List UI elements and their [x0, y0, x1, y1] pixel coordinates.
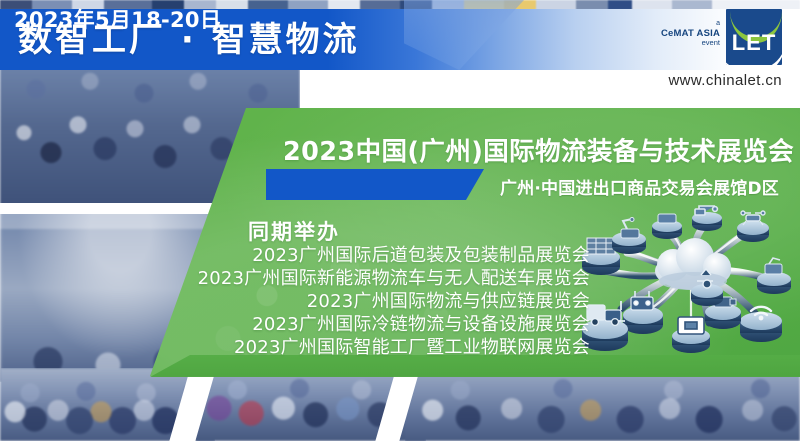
event-venue: 广州·中国进出口商品交易会展馆D区: [500, 174, 779, 199]
cloud-icon: [655, 238, 731, 290]
event-title: 2023中国(广州)国际物流装备与技术展览会: [283, 131, 794, 168]
website-url[interactable]: www.chinalet.cn: [668, 72, 782, 89]
cemat-asia-tagline: a CeMAT ASIA event: [634, 20, 720, 48]
pod-drone: [737, 211, 769, 242]
event-date-text: 2023年5月18-20日: [14, 4, 221, 34]
tagline-line-1: a: [634, 20, 720, 28]
concurrent-events-list: 2023广州国际后道包装及包装制品展览会 2023广州国际新能源物流车与无人配送…: [0, 244, 590, 359]
pod-crane: [692, 206, 722, 231]
pod-wifi: [740, 307, 782, 342]
event-date-badge: [266, 169, 484, 200]
iot-cloud-network-illustration: [575, 205, 800, 380]
pod-scanner: [757, 258, 791, 294]
exhibition-poster: 数智工厂 · 智慧物流 LET a CeMAT ASIA event www.c…: [0, 0, 800, 441]
list-item: 2023广州国际物流与供应链展览会: [0, 290, 590, 313]
pod-conveyor: [652, 214, 682, 239]
let-logo-block[interactable]: LET a CeMAT ASIA event www.chinalet.cn: [610, 6, 790, 90]
let-logo-mark: LET: [726, 9, 782, 65]
list-item: 2023广州国际新能源物流车与无人配送车展览会: [0, 267, 590, 290]
list-item: 2023广州国际冷链物流与设备设施展览会: [0, 313, 590, 336]
pod-robot-arm: [612, 218, 646, 255]
concurrent-events-heading: 同期举办: [248, 216, 340, 246]
let-logo-text: LET: [726, 30, 782, 56]
tagline-line-3: event: [634, 39, 720, 48]
iot-svg: [575, 205, 800, 380]
pod-control-panel: [672, 317, 710, 353]
pod-agv-robot: [623, 291, 663, 334]
list-item: 2023广州国际智能工厂暨工业物联网展览会: [0, 336, 590, 359]
list-item: 2023广州国际后道包装及包装制品展览会: [0, 244, 590, 267]
